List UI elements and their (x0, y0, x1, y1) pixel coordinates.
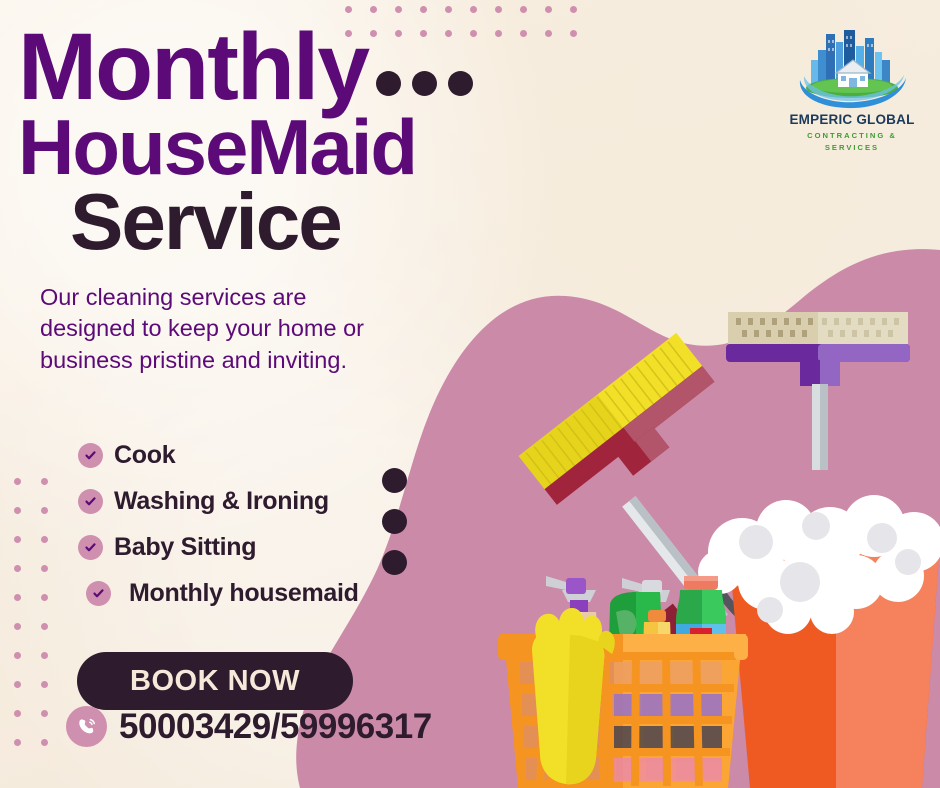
purple-mop-icon (726, 312, 910, 470)
list-item: Washing & Ironing (78, 478, 359, 524)
big-dot (382, 468, 407, 493)
logo-tagline: CONTRACTING & SERVICES (786, 130, 918, 154)
phone-number: 50003429/59996317 (119, 707, 432, 747)
headline-line-service: Service (70, 182, 473, 262)
orange-supply-basket-icon (498, 634, 748, 788)
detergent-bottle-icon (608, 578, 670, 682)
contact-phone-row[interactable]: 50003429/59996317 (66, 706, 432, 747)
big-dot (382, 550, 407, 575)
soap-suds-icon (698, 495, 940, 634)
headline-block: Monthly HouseMaid Service (18, 22, 473, 262)
poster-canvas: EMPERIC GLOBAL CONTRACTING & SERVICES Mo… (0, 0, 940, 788)
logo-tagline-line1: CONTRACTING & (786, 130, 918, 142)
check-circle-icon (78, 489, 103, 514)
city-skyline-house-logo-icon (786, 28, 918, 114)
list-item: Cook (78, 432, 359, 478)
check-circle-icon (86, 581, 111, 606)
ringing-phone-icon (66, 706, 107, 747)
check-circle-icon (78, 535, 103, 560)
book-now-label: BOOK NOW (130, 665, 300, 698)
list-item-label: Cook (114, 441, 175, 470)
yellow-broom-icon (519, 333, 730, 524)
cleaning-supplies-illustration (470, 290, 940, 788)
list-item: Monthly housemaid (78, 570, 359, 616)
services-checklist: Cook Washing & Ironing Baby Sitting Mont… (78, 432, 359, 616)
orange-bucket-with-suds-icon (712, 530, 940, 788)
three-dots-icon (376, 71, 473, 96)
headline-line-monthly: Monthly (18, 22, 473, 112)
spray-bottle-icon (546, 576, 600, 682)
logo-company-name: EMPERIC GLOBAL (786, 112, 918, 127)
blue-cleaner-bottle-icon (676, 576, 726, 682)
list-item-label: Washing & Ironing (114, 487, 329, 516)
subcopy-text: Our cleaning services are designed to ke… (40, 282, 380, 376)
headline-monthly-text: Monthly (18, 22, 368, 112)
broom-handle (622, 496, 728, 640)
book-now-button[interactable]: BOOK NOW (77, 652, 353, 710)
list-item: Baby Sitting (78, 524, 359, 570)
list-item-label: Baby Sitting (114, 533, 256, 562)
list-item-label: Monthly housemaid (129, 579, 359, 608)
logo-tagline-line2: SERVICES (786, 142, 918, 154)
big-dot (382, 509, 407, 534)
check-circle-icon (78, 443, 103, 468)
decorative-dots-left (14, 478, 68, 768)
brand-logo: EMPERIC GLOBAL CONTRACTING & SERVICES (786, 28, 918, 154)
yellow-rubber-gloves-icon (532, 608, 615, 784)
small-bottle-icon (642, 610, 672, 682)
headline-line-housemaid: HouseMaid (18, 108, 473, 188)
decorative-dots-vertical (382, 468, 407, 575)
